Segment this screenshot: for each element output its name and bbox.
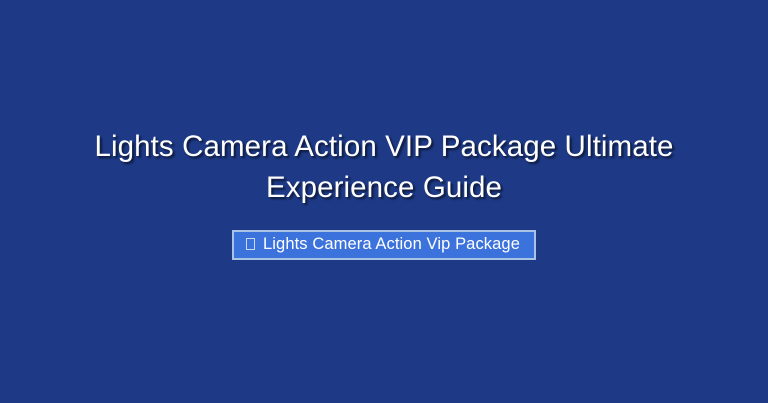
cta-button[interactable]: Lights Camera Action Vip Package — [232, 230, 536, 260]
hero-banner: Lights Camera Action VIP Package Ultimat… — [0, 0, 768, 403]
cta-button-label: Lights Camera Action Vip Package — [263, 236, 520, 253]
page-title: Lights Camera Action VIP Package Ultimat… — [74, 126, 694, 208]
missing-glyph-box-icon — [246, 238, 255, 250]
hero-content: Lights Camera Action VIP Package Ultimat… — [64, 126, 704, 260]
